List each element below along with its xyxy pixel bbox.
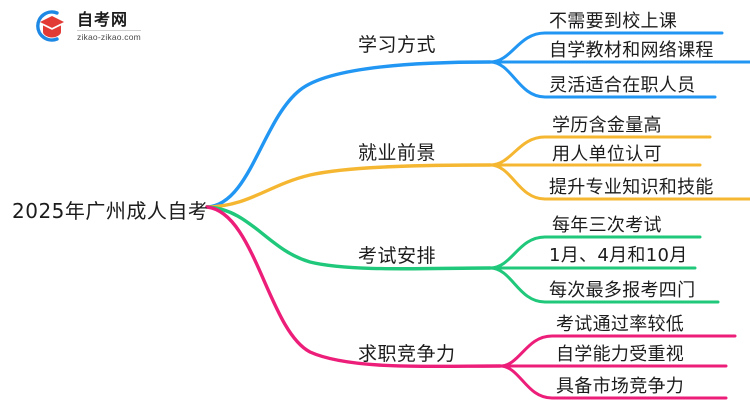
logo-mark-icon — [30, 8, 70, 44]
mindmap-branch-1-leaf-1[interactable]: 不需要到校上课 — [549, 7, 677, 33]
mindmap-branch-4-leaf-1[interactable]: 考试通过率较低 — [556, 310, 684, 336]
mindmap-branch-3-leaf-3[interactable]: 每次最多报考四门 — [549, 276, 695, 302]
logo-text: 自考网 zikao-zikao.com — [77, 10, 141, 42]
mindmap-branch-1-leaf-2[interactable]: 自学教材和网络课程 — [549, 36, 714, 62]
mindmap-branch-2-leaf-2[interactable]: 用人单位认可 — [552, 140, 662, 166]
mindmap-branch-2-leaf-3[interactable]: 提升专业知识和技能 — [549, 173, 714, 199]
mindmap-branch-3-leaf-1[interactable]: 每年三次考试 — [552, 211, 662, 237]
connector-root-to-branch-1 — [207, 62, 490, 207]
mindmap-branch-2-label[interactable]: 就业前景 — [358, 138, 436, 165]
mindmap-branch-1-leaf-3[interactable]: 灵活适合在职人员 — [549, 71, 695, 97]
mindmap-branch-4-leaf-3[interactable]: 具备市场竞争力 — [556, 372, 684, 398]
mindmap-canvas: 自考网 zikao-zikao.com — [0, 0, 750, 410]
connector-root-to-branch-4 — [207, 207, 500, 366]
logo-glyph-icon — [30, 8, 70, 44]
mindmap-branch-3-leaf-2[interactable]: 1月、4月和10月 — [549, 241, 688, 267]
mindmap-branch-4-leaf-2[interactable]: 自学能力受重视 — [556, 340, 684, 366]
site-logo: 自考网 zikao-zikao.com — [30, 8, 141, 44]
connector-root-to-branch-3 — [207, 207, 490, 269]
mindmap-branch-3-label[interactable]: 考试安排 — [358, 241, 436, 268]
mindmap-root-node[interactable]: 2025年广州成人自考 — [12, 195, 208, 224]
mindmap-branch-4-label[interactable]: 求职竞争力 — [358, 339, 456, 366]
connector-root-to-branch-2 — [207, 165, 490, 207]
logo-url: zikao-zikao.com — [77, 31, 141, 42]
mindmap-branch-1-label[interactable]: 学习方式 — [358, 30, 436, 57]
logo-name-cn: 自考网 — [77, 12, 141, 31]
mindmap-branch-2-leaf-1[interactable]: 学历含金量高 — [552, 111, 662, 137]
